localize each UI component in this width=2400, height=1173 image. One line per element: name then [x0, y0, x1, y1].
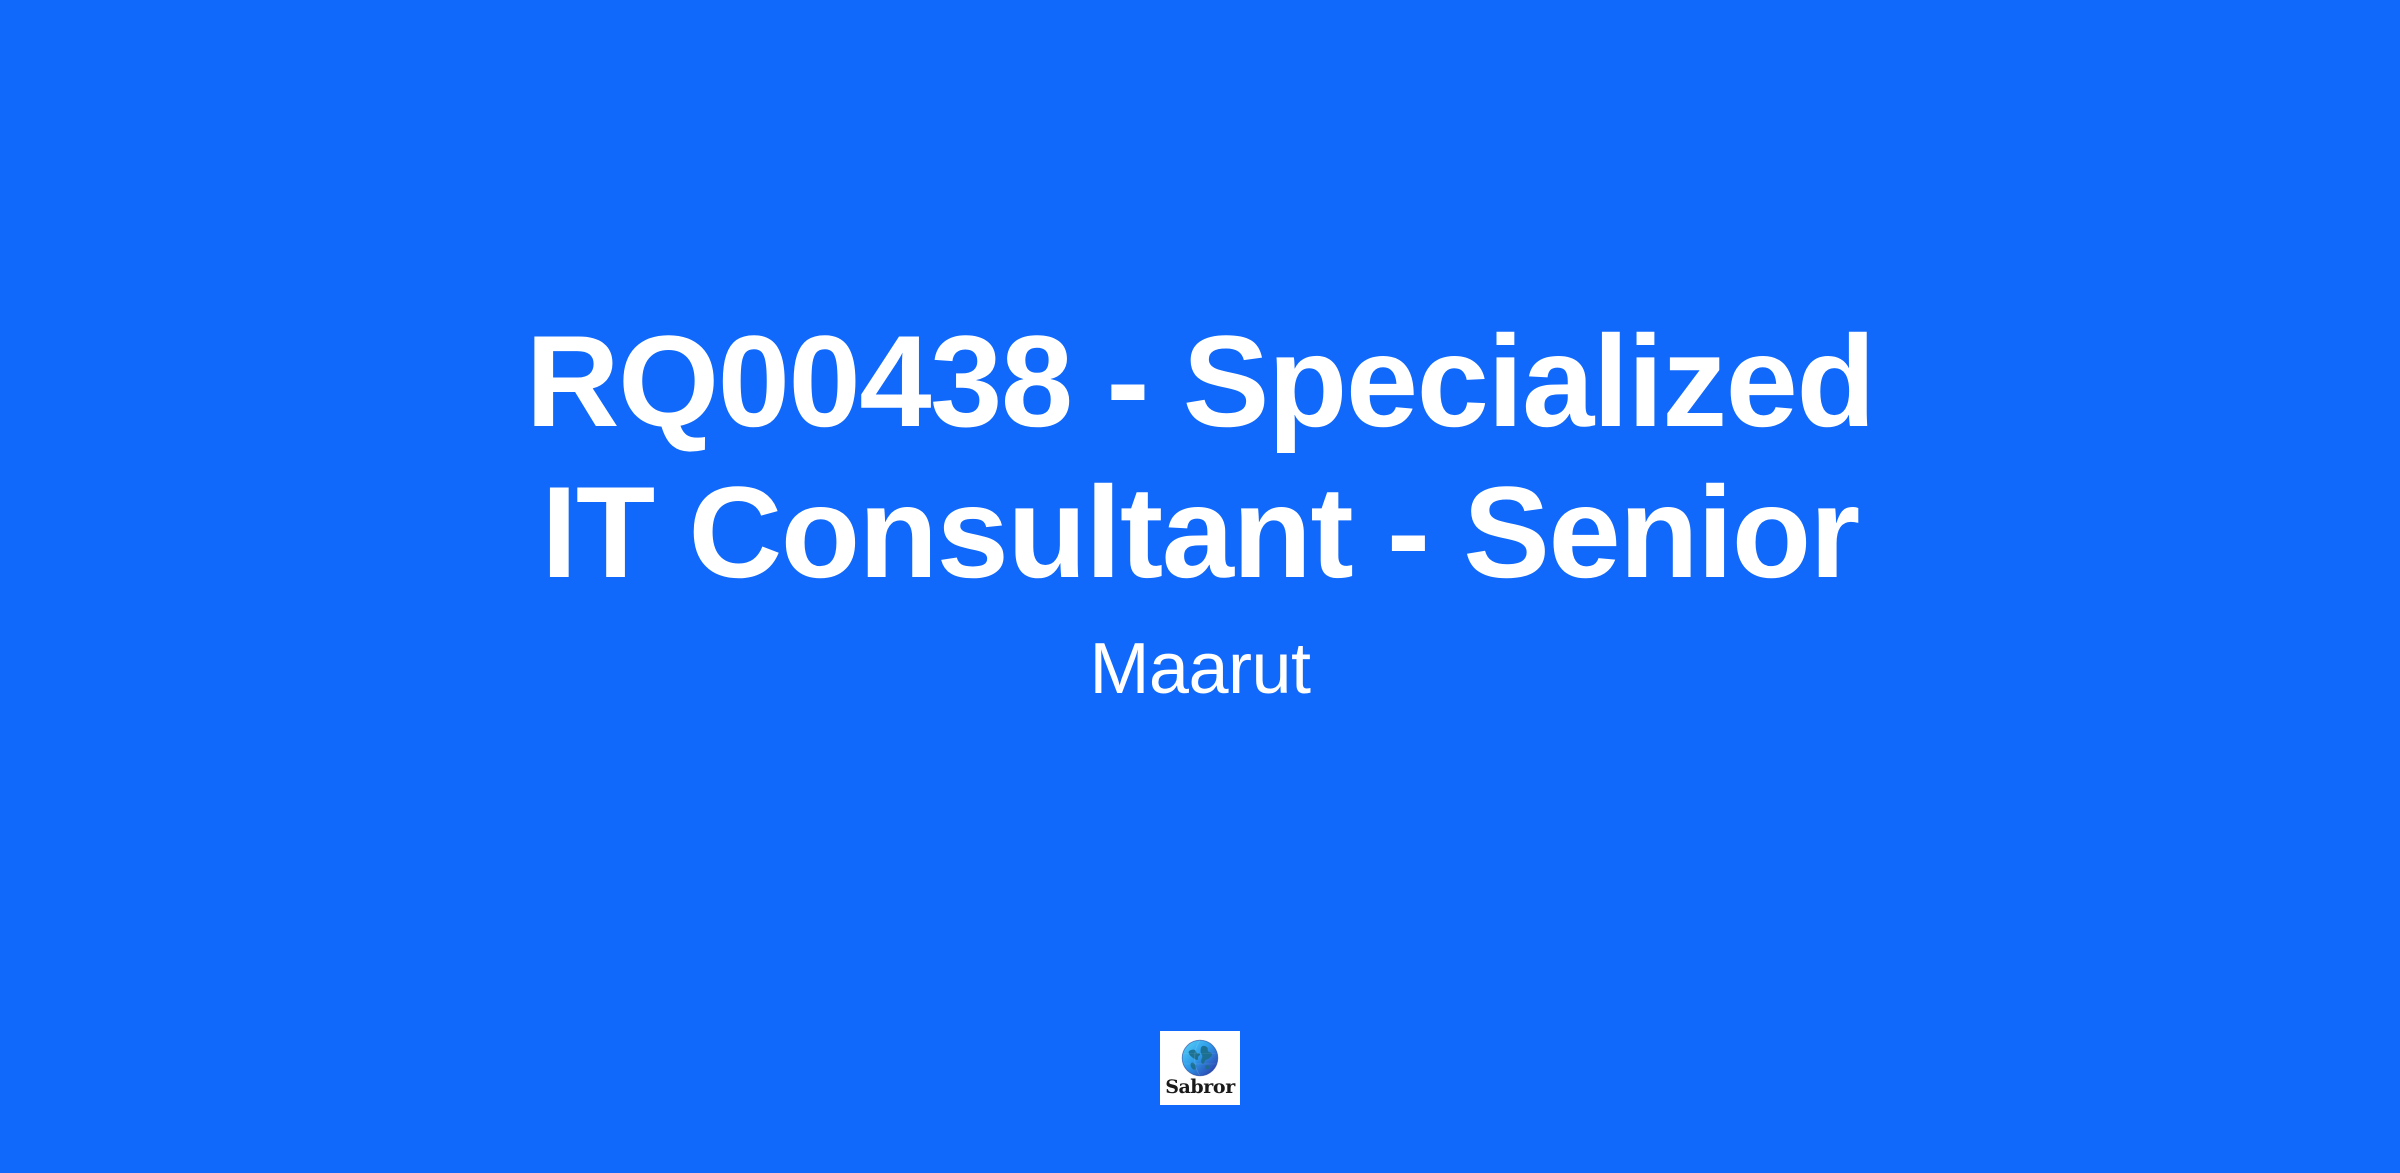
page-title: RQ00438 - Specialized IT Consultant - Se…	[240, 0, 2160, 608]
headline-block: RQ00438 - Specialized IT Consultant - Se…	[0, 0, 2400, 1173]
job-posting-card: RQ00438 - Specialized IT Consultant - Se…	[0, 0, 2400, 1173]
globe-icon	[1181, 1039, 1219, 1077]
company-logo[interactable]: Sabror	[1160, 1031, 1240, 1105]
company-subtitle: Maarut	[1089, 608, 1310, 712]
logo-wordmark: Sabror	[1165, 1078, 1235, 1097]
